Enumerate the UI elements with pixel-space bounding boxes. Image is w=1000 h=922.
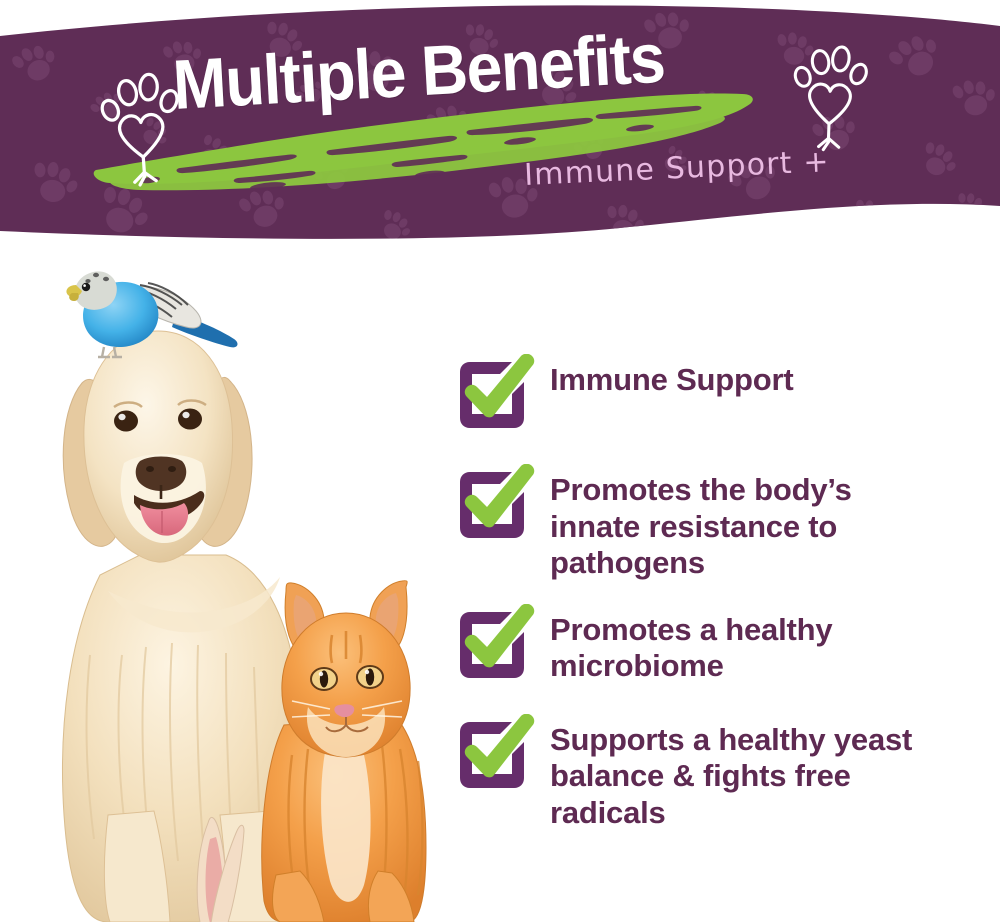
orange-tabby-cat	[262, 581, 426, 922]
benefit-item: Promotes a healthy microbiome	[452, 602, 982, 692]
benefit-item: Supports a healthy yeast balance & fight…	[452, 712, 982, 832]
checkbox-checked-icon	[452, 604, 538, 684]
header-banner: Multiple Benefits Immune Support +	[0, 0, 1000, 250]
checkbox-checked-icon	[452, 464, 538, 544]
checkbox-checked-icon	[452, 354, 538, 434]
checkbox-checked-icon	[452, 714, 538, 794]
banner-shape	[0, 0, 1000, 250]
benefit-item: Immune Support	[452, 352, 982, 442]
benefit-label: Immune Support	[550, 352, 793, 399]
infographic-page: Multiple Benefits Immune Support +	[0, 0, 1000, 922]
pets-photo	[30, 255, 450, 922]
benefit-label: Promotes a healthy microbiome	[550, 602, 950, 685]
benefit-label: Promotes the body’s innate resistance to…	[550, 462, 950, 582]
benefits-list: Immune Support Promotes the body’s innat…	[452, 352, 982, 831]
benefit-item: Promotes the body’s innate resistance to…	[452, 462, 982, 582]
benefit-label: Supports a healthy yeast balance & fight…	[550, 712, 950, 832]
pets-illustration	[30, 255, 450, 922]
